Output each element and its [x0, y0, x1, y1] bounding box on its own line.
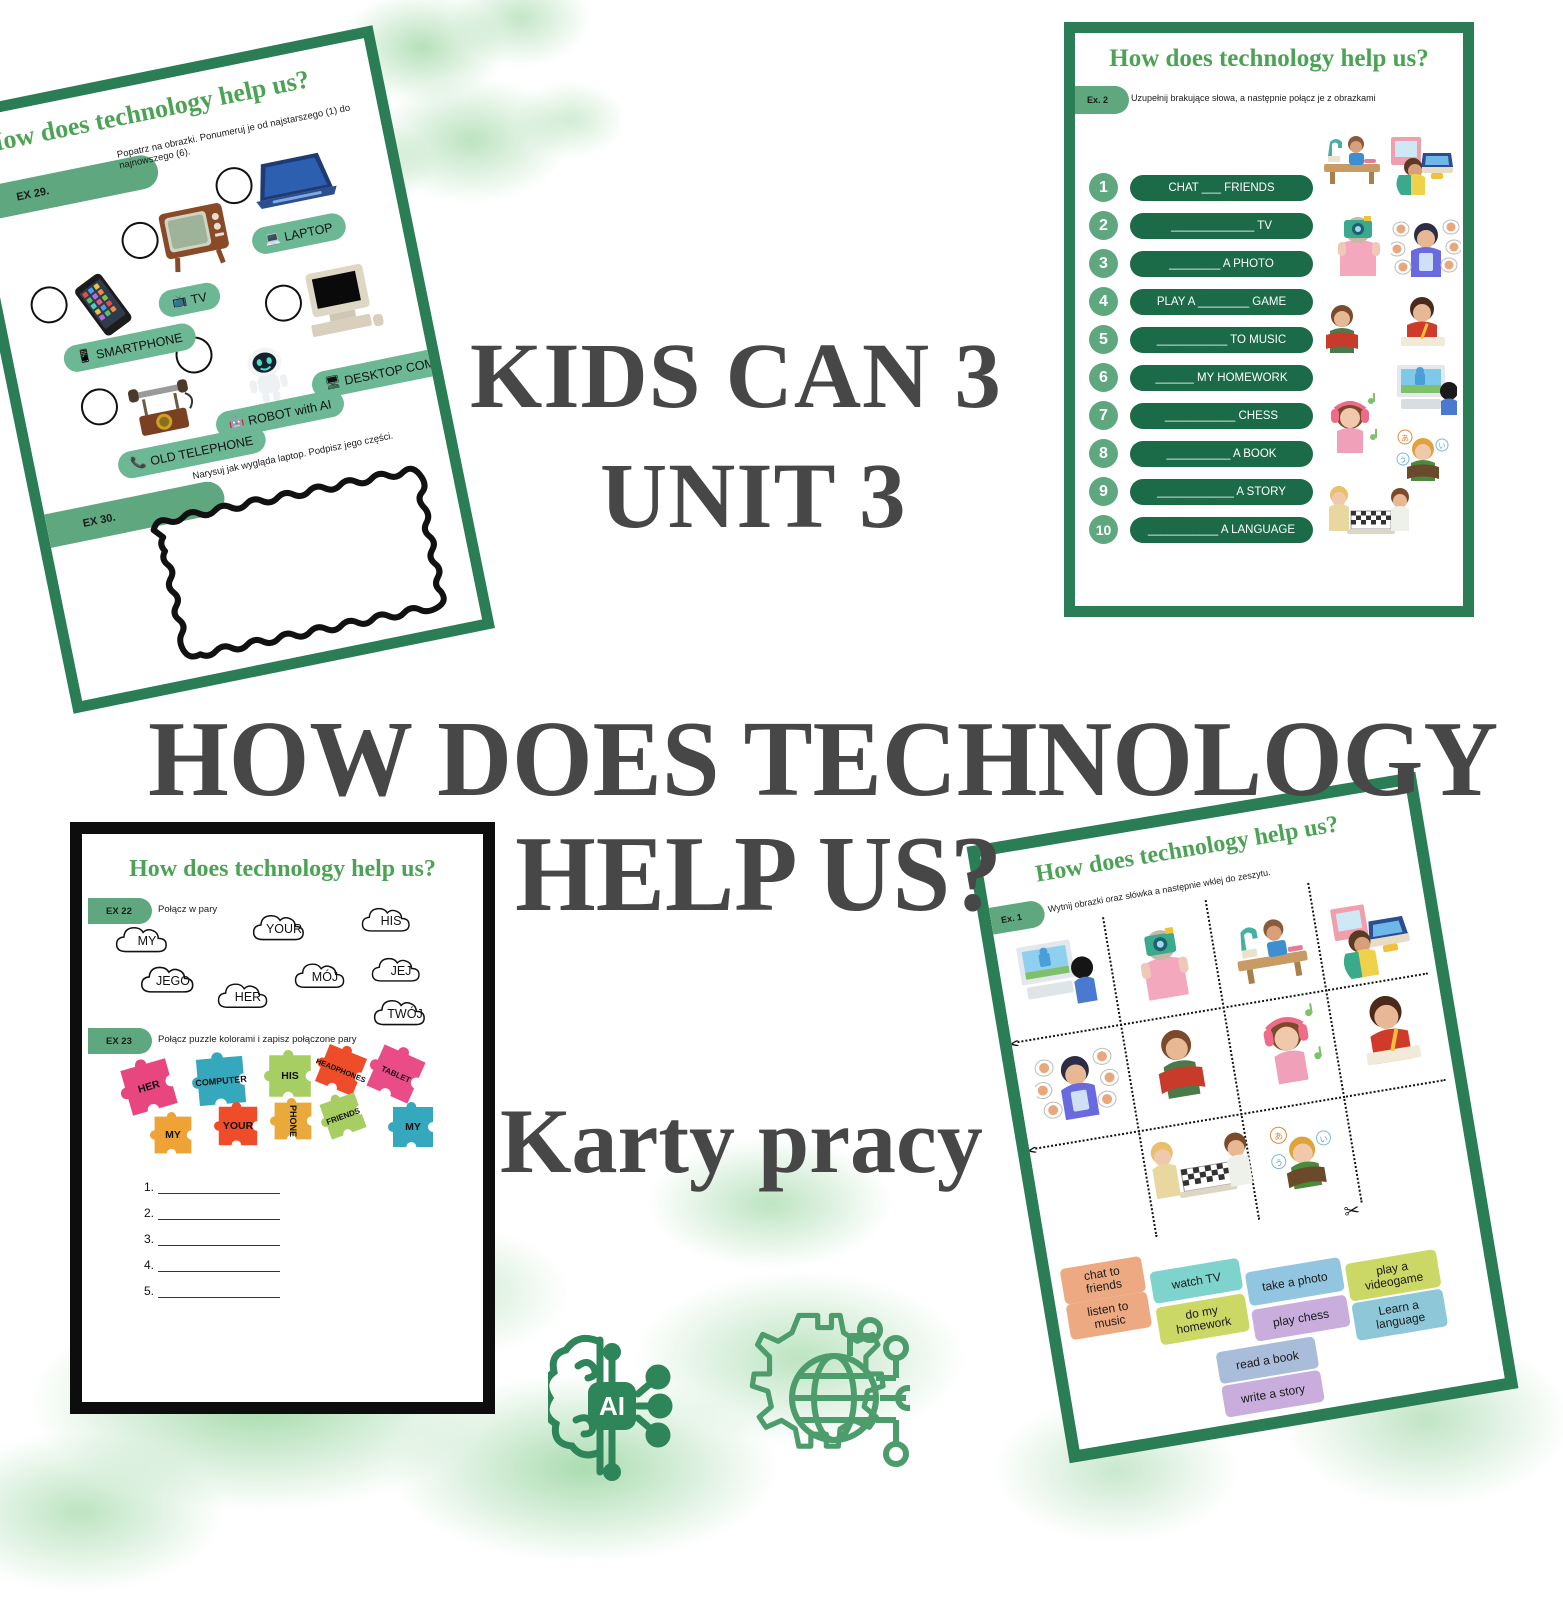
poster-heading-line1: HOW DOES TECHNOLOGY: [148, 705, 1498, 815]
puzzle-piece-my-orange[interactable]: MY: [150, 1112, 196, 1158]
row-number: 6: [1089, 363, 1118, 392]
word-cloud-jej[interactable]: JEJ: [370, 952, 432, 990]
word-cloud-her[interactable]: HER: [216, 978, 280, 1016]
illustration-watch-tv: [1013, 931, 1109, 1022]
gear-globe-icon: [730, 1300, 910, 1490]
puzzle-piece-friends[interactable]: FRIENDS: [314, 1087, 373, 1146]
svg-text:あ: あ: [1273, 1131, 1284, 1142]
exercise-tag-ex2: Ex. 2: [1075, 86, 1129, 114]
line-number: 4.: [144, 1258, 154, 1272]
phrase-row[interactable]: 6 ______ MY HOMEWORK: [1089, 363, 1313, 392]
phrase-row[interactable]: 3 ________ A PHOTO: [1089, 249, 1313, 278]
phrase-row[interactable]: 7 ___________ CHESS: [1089, 401, 1313, 430]
cloud-label: JEGO: [156, 974, 190, 988]
ai-label: AI: [599, 1391, 625, 1421]
phrase-pill[interactable]: ___________ TO MUSIC: [1130, 327, 1313, 353]
robot-icon: 🤖: [228, 414, 246, 432]
answer-line-2[interactable]: 2.: [144, 1206, 280, 1220]
illustration-listen-to-music: [1321, 391, 1379, 453]
word-cloud-your[interactable]: YOUR: [251, 910, 317, 948]
worksheet-card-ex22-23[interactable]: How does technology help us? EX 22 Połąc…: [70, 822, 495, 1414]
cloud-label: HIS: [381, 914, 402, 928]
phrase-row[interactable]: 4 PLAY A ________ GAME: [1089, 287, 1313, 316]
word-cloud-moj[interactable]: MÓJ: [293, 958, 357, 996]
row-number: 2: [1089, 211, 1118, 240]
desktop-icon: 🖥: [324, 374, 343, 392]
row-number: 3: [1089, 249, 1118, 278]
row-number: 1: [1089, 173, 1118, 202]
illustration-play-videogame: [1389, 133, 1455, 199]
poster-title-line2: UNIT 3: [600, 450, 907, 545]
row-number: 7: [1089, 401, 1118, 430]
word-cloud-twoj[interactable]: TWÓJ: [372, 995, 438, 1033]
illustration-watch-tv: [1395, 363, 1457, 417]
telephone-icon: 📞: [130, 454, 148, 472]
exercise-tag-ex23: EX 23: [88, 1028, 152, 1054]
cloud-label: HER: [235, 990, 261, 1004]
svg-text:い: い: [1319, 1134, 1328, 1144]
worksheet-card-ex2[interactable]: How does technology help us? Ex. 2 Uzupe…: [1064, 22, 1474, 617]
illustration-read-a-book: [1141, 1020, 1217, 1107]
illustration-play-chess: [1327, 481, 1413, 539]
illustration-take-a-photo: [1126, 915, 1200, 1004]
label-tv[interactable]: 📺 TV: [156, 280, 222, 319]
cloud-label: TWÓJ: [387, 1007, 422, 1021]
phrase-pill[interactable]: __________ A BOOK: [1130, 441, 1313, 467]
illustration-do-homework: [1320, 128, 1384, 186]
worksheet-card-ex1[interactable]: How does technology help us? Ex. 1 Wytni…: [967, 772, 1519, 1464]
puzzle-piece-tablet[interactable]: TABLET: [359, 1037, 433, 1111]
svg-text:あ: あ: [1401, 434, 1409, 443]
exercise-number: EX 23: [88, 1036, 132, 1047]
line-number: 5.: [144, 1284, 154, 1298]
illustration-read-a-book: [1318, 301, 1366, 357]
answer-line-5[interactable]: 5.: [144, 1284, 280, 1298]
phrase-row[interactable]: 1 CHAT ___ FRIENDS: [1089, 173, 1313, 202]
puzzle-piece-phone[interactable]: PHONE: [270, 1098, 316, 1144]
exercise-number: Ex. 2: [1075, 95, 1108, 105]
exercise-instruction-ex2: Uzupełnij brakujące słowa, a następnie p…: [1131, 93, 1376, 103]
phrase-row[interactable]: 5 ___________ TO MUSIC: [1089, 325, 1313, 354]
puzzle-label: PHONE: [288, 1105, 298, 1137]
svg-text:う: う: [1274, 1158, 1283, 1168]
laptop-image: [246, 144, 342, 218]
illustration-write-a-story: [1393, 295, 1451, 349]
illustration-learn-a-language: あ い う: [1262, 1112, 1343, 1195]
puzzle-piece-your[interactable]: YOUR: [214, 1102, 262, 1150]
old-tv-image: [152, 196, 242, 278]
row-number: 10: [1089, 515, 1118, 544]
poster-heading-line2: HELP US?: [515, 820, 1002, 930]
exercise-number: EX 22: [88, 906, 132, 917]
line-number: 1.: [144, 1180, 154, 1194]
phrase-pill[interactable]: ___________ CHESS: [1130, 403, 1313, 429]
answer-line-1[interactable]: 1.: [144, 1180, 280, 1194]
exercise-instruction-ex22: Połącz w pary: [158, 904, 217, 915]
illustration-listen-to-music: [1247, 999, 1327, 1087]
cloud-label: JEJ: [391, 964, 412, 978]
phrase-pill[interactable]: PLAY A ________ GAME: [1130, 289, 1313, 315]
row-number: 4: [1089, 287, 1118, 316]
cloud-label: MY: [138, 934, 157, 948]
phrase-row[interactable]: 8 __________ A BOOK: [1089, 439, 1313, 468]
old-telephone-image: [117, 367, 207, 447]
svg-text:う: う: [1400, 456, 1407, 464]
label-text: LAPTOP: [283, 220, 334, 244]
puzzle-piece-my-teal[interactable]: MY: [388, 1102, 438, 1152]
order-circle-4[interactable]: [78, 385, 122, 429]
label-laptop[interactable]: 💻 LAPTOP: [250, 211, 348, 256]
worksheet-b-title: How does technology help us?: [1075, 45, 1463, 73]
worksheet-d-inner: How does technology help us? Ex. 1 Wytni…: [980, 786, 1504, 1450]
svg-text:い: い: [1439, 442, 1446, 450]
row-number: 5: [1089, 325, 1118, 354]
illustration-learn-a-language: あ い う: [1395, 425, 1451, 483]
phrase-row[interactable]: 10 ___________ A LANGUAGE: [1089, 515, 1313, 544]
worksheet-c-title: How does technology help us?: [88, 856, 477, 883]
puzzle-label: MY: [405, 1121, 421, 1133]
worksheet-c-inner: How does technology help us? EX 22 Połąc…: [88, 840, 477, 1396]
phrase-pill[interactable]: CHAT ___ FRIENDS: [1130, 175, 1313, 201]
word-cloud-jego[interactable]: JEGO: [138, 962, 208, 1000]
line-number: 2.: [144, 1206, 154, 1220]
row-number: 9: [1089, 477, 1118, 506]
phrase-pill[interactable]: ____________ A STORY: [1130, 479, 1313, 505]
illustration-chat-to-friends: [1029, 1037, 1124, 1126]
laptop-icon: 💻: [264, 230, 282, 248]
cut-cell[interactable]: [1035, 1130, 1157, 1254]
exercise-number: EX 30.: [37, 512, 117, 540]
illustration-chat-to-friends: [1391, 213, 1461, 279]
order-circle-1[interactable]: [27, 283, 71, 327]
illustration-write-a-story: [1347, 986, 1431, 1073]
cut-cell[interactable]: [1343, 1079, 1463, 1203]
phrase-row[interactable]: 2 _____________ TV: [1089, 211, 1313, 240]
smartphone-icon: 📱: [75, 348, 93, 366]
worksheet-a-inner: How does technology help us? EX 29. Popa…: [0, 38, 482, 700]
puzzle-label: HIS: [281, 1070, 299, 1082]
desktop-computer-image: [297, 258, 390, 345]
ai-brain-icon: AI: [548, 1312, 688, 1492]
label-text: TV: [190, 289, 208, 306]
word-cloud-his[interactable]: HIS: [360, 902, 422, 940]
exercise-number: EX 29.: [0, 185, 50, 213]
tv-icon: 📺: [170, 293, 188, 311]
poster-subtitle: Karty pracy: [500, 1095, 983, 1189]
label-desktop-computer[interactable]: 🖥 DESKTOP COMPUTER: [310, 338, 482, 400]
phrase-pill[interactable]: ________ A PHOTO: [1130, 251, 1313, 277]
poster-title-line1: KIDS CAN 3: [470, 330, 1002, 425]
cloud-label: YOUR: [266, 922, 302, 936]
row-number: 8: [1089, 439, 1118, 468]
illustration-take-a-photo: [1330, 208, 1388, 278]
answer-line-4[interactable]: 4.: [144, 1258, 280, 1272]
phrase-pill[interactable]: ___________ A LANGUAGE: [1130, 517, 1313, 543]
worksheet-b-inner: How does technology help us? Ex. 2 Uzupe…: [1075, 33, 1463, 606]
phrase-pill[interactable]: _____________ TV: [1130, 213, 1313, 239]
illustration-play-videogame: [1327, 893, 1417, 983]
phrase-row[interactable]: 9 ____________ A STORY: [1089, 477, 1313, 506]
word-cloud-my[interactable]: MY: [114, 922, 180, 960]
label-text: DESKTOP COMPUTER: [343, 347, 477, 387]
puzzle-label: MY: [165, 1129, 181, 1141]
answer-line-3[interactable]: 3.: [144, 1232, 280, 1246]
exercise-tag-ex22: EX 22: [88, 898, 152, 924]
phrase-pill[interactable]: ______ MY HOMEWORK: [1130, 365, 1313, 391]
cloud-label: MÓJ: [312, 970, 338, 984]
illustration-do-homework: [1226, 904, 1315, 988]
worksheet-card-ex29[interactable]: How does technology help us? EX 29. Popa…: [0, 25, 495, 713]
puzzle-label: YOUR: [223, 1120, 253, 1132]
line-number: 3.: [144, 1232, 154, 1246]
puzzle-piece-his[interactable]: HIS: [264, 1050, 316, 1102]
